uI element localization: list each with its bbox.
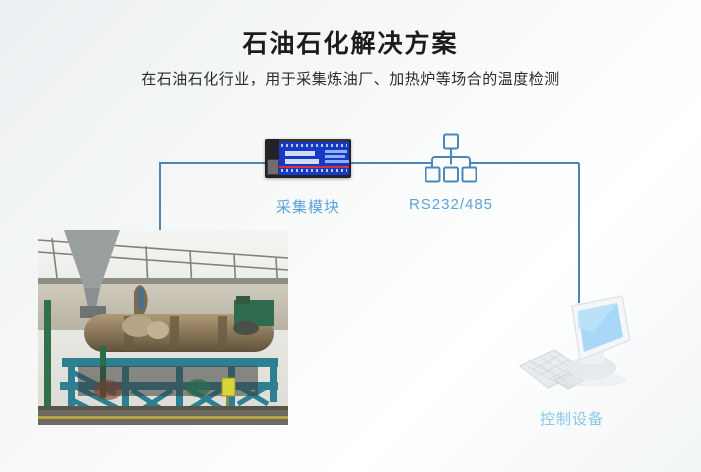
module-front-panel bbox=[279, 142, 349, 175]
connector-line-to-control-device bbox=[578, 163, 580, 303]
refinery-plant-photo bbox=[38, 230, 288, 425]
protocol-label: RS232/485 bbox=[400, 196, 502, 213]
control-device-label: 控制设备 bbox=[520, 408, 624, 429]
solution-diagram-page: 石油石化解决方案 在石油石化行业，用于采集炼油厂、加热炉等场合的温度检测 采集模… bbox=[0, 0, 701, 472]
module-panel-text-line bbox=[325, 150, 347, 153]
connector-line-module-to-photo bbox=[159, 163, 161, 233]
desktop-computer-icon bbox=[518, 288, 636, 396]
page-title: 石油石化解决方案 bbox=[0, 24, 701, 60]
module-red-stripe bbox=[279, 166, 349, 168]
connector-line-left-horizontal bbox=[159, 162, 265, 164]
module-panel-text-line bbox=[325, 155, 345, 158]
module-panel-block bbox=[285, 159, 319, 164]
module-terminal-row-top bbox=[281, 144, 347, 147]
network-topology-icon bbox=[425, 133, 477, 183]
connector-line-network-to-right bbox=[470, 162, 579, 164]
module-connector-port bbox=[267, 159, 279, 175]
module-panel-block bbox=[285, 151, 315, 156]
connector-line-module-to-network bbox=[348, 162, 431, 164]
page-subtitle: 在石油石化行业，用于采集炼油厂、加热炉等场合的温度检测 bbox=[0, 68, 701, 89]
module-terminal-row-bottom bbox=[281, 169, 347, 172]
acquisition-module-label: 采集模块 bbox=[265, 196, 351, 217]
data-acquisition-module-icon bbox=[265, 139, 351, 178]
module-panel-text-line bbox=[325, 160, 349, 163]
